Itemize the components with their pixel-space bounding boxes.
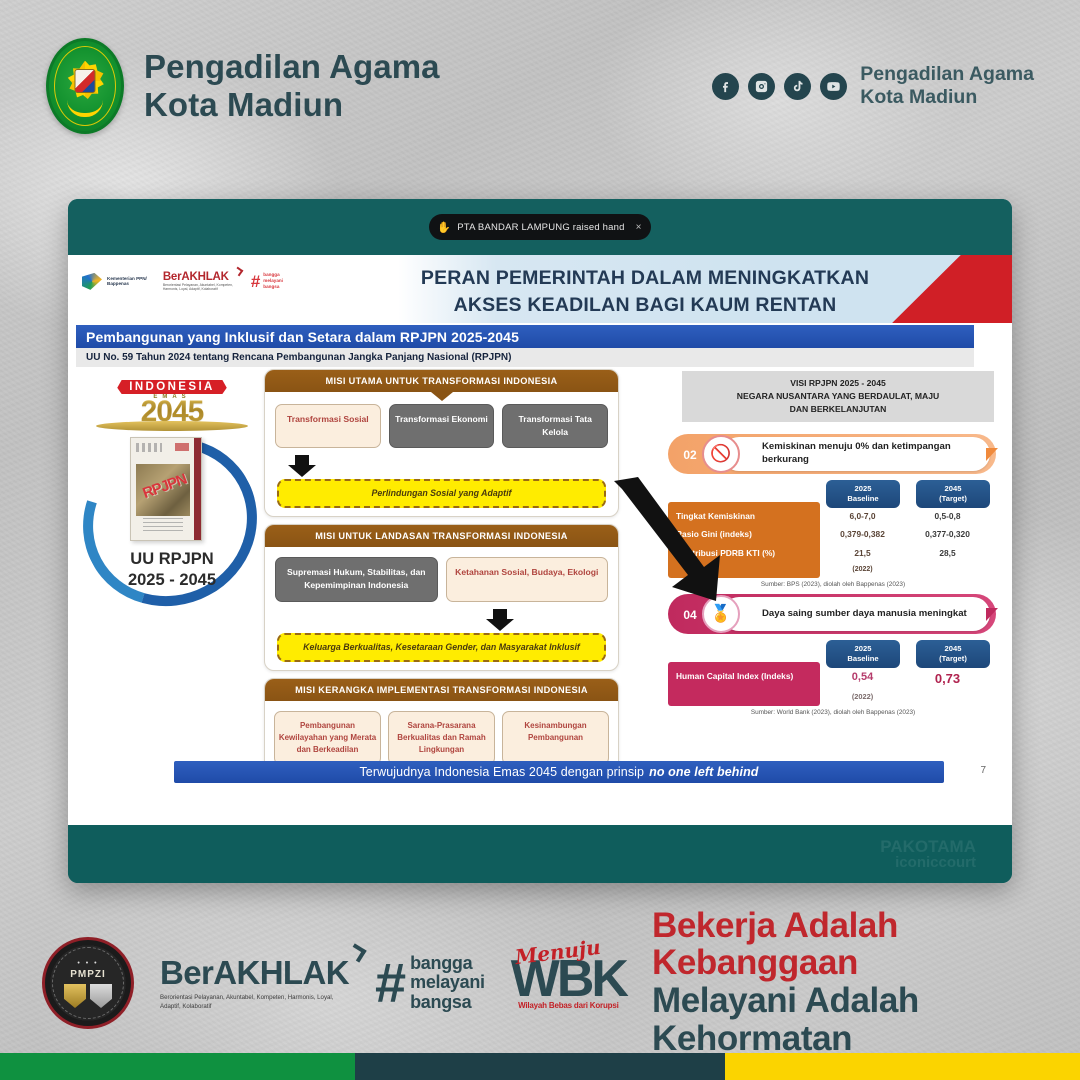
strip-teal: [355, 1053, 725, 1080]
goal-02-base-year: 2025: [828, 484, 898, 494]
social-links[interactable]: [712, 73, 847, 100]
table-cell: 0,54: [820, 667, 905, 689]
slide-header: Kementerian PPN/ Bappenas BerAKHLAK Bero…: [68, 255, 1012, 323]
slide-title-line1: PERAN PEMERINTAH DALAM MENINGKATKAN: [398, 265, 892, 292]
misi-panels: MISI UTAMA UNTUK TRANSFORMASI INDONESIA …: [264, 369, 619, 781]
goal-02-flag: [986, 448, 998, 461]
hash-icon-footer: #: [375, 963, 406, 1003]
goal-02-tgt-year: 2045: [918, 484, 988, 494]
brand-title-line1: Pengadilan Agama: [144, 48, 440, 86]
bangga-l3: bangsa: [263, 284, 283, 290]
raised-hand-icon: ✋: [437, 221, 451, 234]
bangga-melayani-logo-slide: # bangga melayani bangsa: [251, 272, 283, 290]
table-cell: 0,73: [905, 667, 990, 692]
presentation-slide: Kementerian PPN/ Bappenas BerAKHLAK Bero…: [68, 255, 1012, 825]
brand-block: Pengadilan Agama Kota Madiun: [46, 38, 440, 134]
goal-04-baseline-values: 0,54 (2022): [820, 667, 905, 706]
bangga-footer-l2: melayani: [410, 973, 485, 992]
slide-footer-italic: no one left behind: [649, 765, 758, 779]
table-row: Human Capital Index (Indeks): [668, 667, 820, 685]
book-text-lines: [143, 518, 183, 532]
slide-title: PERAN PEMERINTAH DALAM MENINGKATKAN AKSE…: [398, 265, 892, 319]
table-cell: 21,5: [820, 544, 905, 562]
bappenas-line2: Bappenas: [107, 281, 147, 287]
slide-title-line2: AKSES KEADILAN BAGI KAUM RENTAN: [398, 292, 892, 319]
watermark: PAKOTAMA iconiccourt: [880, 838, 976, 870]
no-poverty-icon: 🚫: [702, 435, 740, 473]
bottom-color-strip: [0, 1053, 1080, 1080]
header-right-line2: Kota Madiun: [860, 86, 1034, 109]
visi-rpjpn-box: VISI RPJPN 2025 - 2045 NEGARA NUSANTARA …: [682, 371, 994, 422]
berakhlak-logo-footer: BerAKHLAK Berorientasi Pelayanan, Akunta…: [160, 954, 349, 1012]
panel-misi-utama-header: MISI UTAMA UNTUK TRANSFORMASI INDONESIA: [265, 370, 618, 392]
goal-04-text: Daya saing sumber daya manusia meningkat: [722, 597, 990, 631]
header-right-title: Pengadilan Agama Kota Madiun: [860, 63, 1034, 108]
facebook-icon[interactable]: [712, 73, 739, 100]
slide-logo-strip: Kementerian PPN/ Bappenas BerAKHLAK Bero…: [82, 271, 283, 292]
book-spine: [194, 438, 201, 540]
big-arrow-icon: [608, 475, 728, 605]
wbk-logo: Menuju WBK Wilayah Bebas dari Korupsi: [511, 956, 626, 1010]
strip-green: [0, 1053, 355, 1080]
instagram-icon[interactable]: [748, 73, 775, 100]
table-cell: 28,5: [905, 544, 990, 562]
meeting-bottom-bar: PAKOTAMA iconiccourt: [68, 825, 1012, 883]
goal-02-text: Kemiskinan menuju 0% dan ketimpangan ber…: [722, 437, 990, 471]
wbk-subtext: Wilayah Bebas dari Korupsi: [511, 1001, 626, 1010]
panel-misi-landasan-header: MISI UNTUK LANDASAN TRANSFORMASI INDONES…: [265, 525, 618, 547]
goal-02-target-values: 0,5-0,8 0,377-0,320 28,5: [905, 507, 990, 578]
emas-swoosh: [96, 421, 248, 431]
bangga-text: bangga melayani bangsa: [263, 272, 283, 290]
goal-04-target-values: 0,73: [905, 667, 990, 706]
bappenas-logo-text: Kementerian PPN/ Bappenas: [107, 276, 147, 287]
watermark-line2: iconiccourt: [880, 855, 976, 870]
goal-04-flag: [986, 608, 998, 621]
table-cell: 0,377-0,320: [905, 525, 990, 543]
tagline-line1: Bekerja Adalah Kebanggaan: [652, 908, 1038, 982]
hash-icon: #: [251, 275, 260, 289]
panel-misi-utama: MISI UTAMA UNTUK TRANSFORMASI INDONESIA …: [264, 369, 619, 517]
footer-tagline: Bekerja Adalah Kebanggaan Melayani Adala…: [652, 908, 1038, 1057]
goal-04-tgt-year: 2045: [918, 644, 988, 654]
visi-line1: VISI RPJPN 2025 - 2045: [692, 377, 984, 390]
bangga-footer-l1: bangga: [410, 954, 485, 973]
chip-transformasi-sosial: Transformasi Sosial: [275, 404, 381, 448]
chip-ketahanan-sosial: Ketahanan Sosial, Budaya, Ekologi: [446, 557, 609, 602]
uu-line2: 2025 - 2045: [74, 570, 270, 591]
bangga-melayani-logo-footer: # bangga melayani bangsa: [375, 954, 485, 1012]
tagline-line2: Melayani Adalah Kehormatan: [652, 982, 1038, 1058]
visi-line3: DAN BERKELANJUTAN: [692, 403, 984, 416]
berakhlak-footer-check-icon: [347, 944, 366, 963]
table-cell-year: (2022): [820, 689, 905, 706]
pmpzi-dots: • • •: [45, 960, 131, 967]
goal-04-source: Sumber: World Bank (2023), diolah oleh B…: [668, 709, 1008, 716]
raised-hand-text: PTA BANDAR LAMPUNG raised hand: [457, 222, 624, 233]
chip-supremasi-hukum: Supremasi Hukum, Stabilitas, dan Kepemim…: [275, 557, 438, 602]
panel-misi-landasan: MISI UNTUK LANDASAN TRANSFORMASI INDONES…: [264, 524, 619, 671]
shield-gold-icon: [64, 984, 86, 1008]
court-crest-logo: [46, 38, 124, 134]
goal-02-values: 6,0-7,0 0,379-0,382 21,5 (2022) 0,5-0,8 …: [820, 502, 1008, 578]
table-cell-year: (2022): [820, 562, 905, 578]
arrow-down-icon: [295, 455, 309, 465]
visi-line2: NEGARA NUSANTARA YANG BERDAULAT, MAJU: [692, 390, 984, 403]
uu-rpjpn-label: UU RPJPN 2025 - 2045: [74, 549, 270, 590]
berakhlak-check-icon: [233, 267, 243, 277]
goal-02-number: 02: [676, 442, 704, 468]
goal-04-values: 0,54 (2022) 0,73: [820, 662, 1008, 706]
slide-section-bar: Pembangunan yang Inklusif dan Setara dal…: [76, 325, 974, 348]
slide-section-subtitle: UU No. 59 Tahun 2024 tentang Rencana Pem…: [76, 348, 974, 367]
pmpzi-tag: PMPZI: [45, 969, 131, 980]
youtube-icon[interactable]: [820, 73, 847, 100]
chip-transformasi-tata-kelola: Transformasi Tata Kelola: [502, 404, 608, 448]
berakhlak-footer-subtext: Berorientasi Pelayanan, Akuntabel, Kompe…: [160, 994, 338, 1012]
tiktok-icon[interactable]: [784, 73, 811, 100]
slide-footer: Terwujudnya Indonesia Emas 2045 dengan p…: [68, 755, 1012, 797]
bappenas-logo: Kementerian PPN/ Bappenas: [82, 273, 147, 290]
header-right-line1: Pengadilan Agama: [860, 63, 1034, 86]
screenshare-card: ✋ PTA BANDAR LAMPUNG raised hand × Kemen…: [68, 199, 1012, 883]
arrow-down-icon-2: [493, 609, 507, 619]
slide-footer-text: Terwujudnya Indonesia Emas 2045 dengan p…: [359, 765, 644, 779]
berakhlak-wordmark: BerAKHLAK: [163, 271, 235, 283]
page-header: Pengadilan Agama Kota Madiun Pengadilan …: [0, 0, 1080, 172]
chip-transformasi-ekonomi: Transformasi Ekonomi: [389, 404, 495, 448]
slide-page-number: 7: [980, 765, 986, 776]
table-cell: 0,379-0,382: [820, 525, 905, 543]
slide-body: INDONESIA EMAS 2045 UU RPJPN 2025 - 2045: [68, 367, 1012, 797]
brand-title-line2: Kota Madiun: [144, 86, 440, 124]
panel-misi-landasan-chips: Supremasi Hukum, Stabilitas, dan Kepemim…: [265, 547, 618, 602]
header-right-block: Pengadilan Agama Kota Madiun: [712, 63, 1034, 108]
table-cell: 0,5-0,8: [905, 507, 990, 525]
berakhlak-subtext: Berorientasi Pelayanan, Akuntabel, Kompe…: [163, 283, 235, 292]
goal-04-row-labels: Human Capital Index (Indeks): [668, 662, 820, 706]
table-cell: 6,0-7,0: [820, 507, 905, 525]
uu-line1: UU RPJPN: [74, 549, 270, 570]
close-icon[interactable]: ×: [636, 222, 642, 233]
page-footer: • • • PMPZI BerAKHLAK Berorientasi Pelay…: [0, 913, 1080, 1053]
pmpzi-shields: [45, 984, 131, 1008]
bappenas-mark-icon: [82, 273, 102, 290]
bangga-footer-l3: bangsa: [410, 993, 485, 1012]
highlight-keluarga-berkualitas: Keluarga Berkualitas, Kesetaraan Gender,…: [277, 633, 606, 662]
berakhlak-footer-wordmark: BerAKHLAK: [160, 954, 349, 992]
book-header-badge: [175, 443, 189, 451]
rpjpn-book-cover: [130, 437, 202, 541]
indonesia-emas-block: INDONESIA EMAS 2045 UU RPJPN 2025 - 2045: [74, 377, 270, 607]
slide-footer-bar: Terwujudnya Indonesia Emas 2045 dengan p…: [174, 761, 944, 783]
book-header-marks: [136, 443, 162, 452]
highlight-perlindungan-sosial: Perlindungan Sosial yang Adaptif: [277, 479, 606, 508]
emas-ribbon: INDONESIA: [117, 380, 227, 394]
goal-04-table-body: Human Capital Index (Indeks) 0,54 (2022)…: [668, 662, 1008, 706]
goal-04-number: 04: [676, 602, 704, 628]
raised-hand-notification[interactable]: ✋ PTA BANDAR LAMPUNG raised hand ×: [429, 214, 650, 240]
goal-02-baseline-values: 6,0-7,0 0,379-0,382 21,5 (2022): [820, 507, 905, 578]
goal-02: 02 🚫 Kemiskinan menuju 0% dan ketimpanga…: [668, 434, 1008, 474]
indonesia-emas-logo: INDONESIA EMAS 2045: [74, 377, 270, 443]
goal-04-table: 2025 Baseline 2045 (Target) Human Capita…: [668, 640, 1008, 716]
meeting-topbar: ✋ PTA BANDAR LAMPUNG raised hand ×: [68, 199, 1012, 255]
shield-silver-icon: [90, 984, 112, 1008]
goal-04-base-year: 2025: [828, 644, 898, 654]
book-photo: [136, 464, 190, 516]
pmpzi-logo: • • • PMPZI: [42, 937, 134, 1029]
berakhlak-logo-slide: BerAKHLAK Berorientasi Pelayanan, Akunta…: [163, 271, 235, 292]
bangga-footer-text: bangga melayani bangsa: [410, 954, 485, 1012]
panel-misi-kerangka-header: MISI KERANGKA IMPLEMENTASI TRANSFORMASI …: [265, 679, 618, 701]
strip-yellow: [725, 1053, 1080, 1080]
brand-title-block: Pengadilan Agama Kota Madiun: [144, 48, 440, 123]
